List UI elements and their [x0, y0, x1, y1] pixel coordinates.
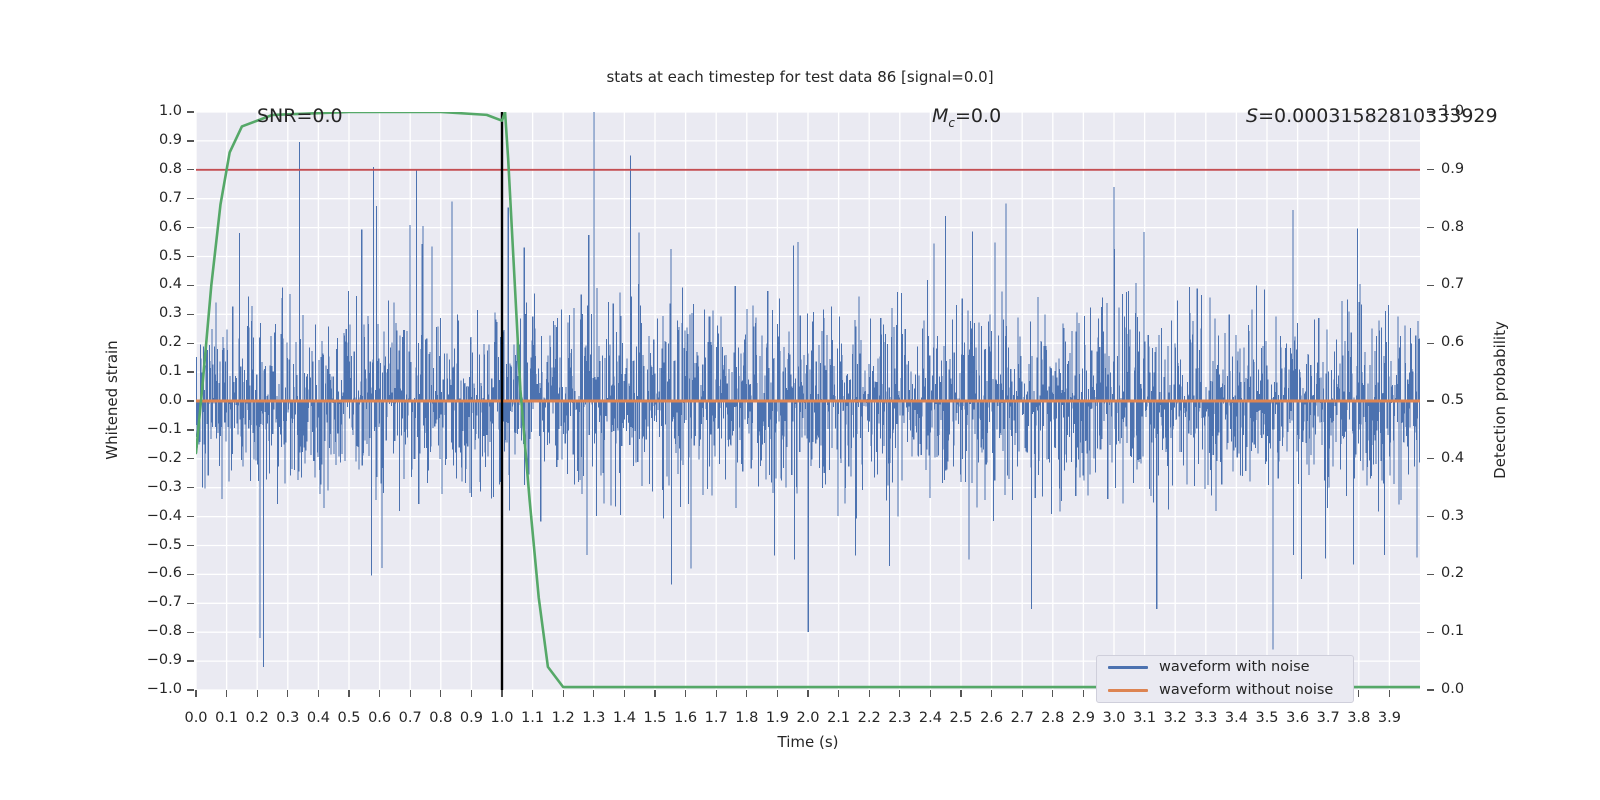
x-axis-tick-mark: [960, 690, 961, 697]
y-axis-right-tick-label: 0.6: [1441, 335, 1464, 350]
plot-svg: [196, 112, 1420, 690]
y-axis-left-tick-mark: [187, 603, 194, 604]
x-axis-tick-label: 1.8: [735, 710, 758, 726]
y-axis-left-tick-label: −0.8: [120, 624, 182, 639]
y-axis-left-tick-mark: [187, 660, 194, 661]
figure-canvas: stats at each timestep for test data 86 …: [0, 0, 1600, 800]
x-axis-tick-mark: [195, 690, 196, 697]
statistic-annotation: S=0.00031582810333929: [1246, 105, 1498, 127]
y-axis-right-tick-label: 0.8: [1441, 220, 1464, 235]
y-axis-left-tick-mark: [187, 458, 194, 459]
x-axis-tick-label: 1.2: [552, 710, 575, 726]
x-axis-tick-label: 0.7: [399, 710, 422, 726]
x-axis-tick-mark: [991, 690, 992, 697]
x-axis-tick-mark: [777, 690, 778, 697]
y-axis-left-tick-mark: [187, 198, 194, 199]
chart-title: stats at each timestep for test data 86 …: [0, 68, 1600, 86]
y-axis-left-tick-mark: [187, 371, 194, 372]
y-axis-right-tick-label: 0.3: [1441, 509, 1464, 524]
x-axis-tick-mark: [716, 690, 717, 697]
x-axis-tick-label: 1.1: [521, 710, 544, 726]
x-axis-tick-label: 2.2: [858, 710, 881, 726]
x-axis-tick-mark: [1052, 690, 1053, 697]
x-axis-tick-label: 3.6: [1286, 710, 1309, 726]
legend-box: waveform with noise waveform without noi…: [1096, 655, 1354, 703]
y-axis-left-tick-mark: [187, 487, 194, 488]
x-axis-tick-label: 3.2: [1164, 710, 1187, 726]
x-axis-tick-mark: [287, 690, 288, 697]
x-axis-tick-label: 2.7: [1011, 710, 1034, 726]
x-axis-tick-label: 2.3: [888, 710, 911, 726]
y-axis-right-tick-mark: [1427, 632, 1434, 633]
x-axis-tick-mark: [593, 690, 594, 697]
x-axis-tick-label: 2.4: [919, 710, 942, 726]
y-axis-left-tick-mark: [187, 285, 194, 286]
x-axis-tick-label: 3.3: [1194, 710, 1217, 726]
x-axis-tick-label: 2.0: [796, 710, 819, 726]
snr-annotation: SNR=0.0: [257, 105, 343, 127]
x-axis-tick-label: 3.7: [1317, 710, 1340, 726]
y-axis-left-tick-mark: [187, 140, 194, 141]
y-axis-left-tick-mark: [187, 632, 194, 633]
x-axis-tick-label: 1.9: [766, 710, 789, 726]
y-axis-right-tick-label: 0.7: [1441, 277, 1464, 292]
y-axis-left-label: Whitened strain: [103, 340, 121, 459]
y-axis-left-tick-label: 0.9: [120, 133, 182, 148]
y-axis-left-tick-label: −0.6: [120, 566, 182, 581]
y-axis-left-tick-mark: [187, 314, 194, 315]
x-axis-tick-label: 2.5: [949, 710, 972, 726]
x-axis-tick-mark: [1389, 690, 1390, 697]
y-axis-right-tick-label: 0.4: [1441, 451, 1464, 466]
x-axis-tick-label: 0.6: [368, 710, 391, 726]
y-axis-right-tick-label: 0.2: [1441, 566, 1464, 581]
x-axis-label: Time (s): [778, 733, 839, 751]
x-axis-tick-label: 0.3: [276, 710, 299, 726]
x-axis-tick-label: 0.5: [337, 710, 360, 726]
y-axis-left-tick-mark: [187, 429, 194, 430]
chirp-mass-symbol: M: [932, 105, 948, 127]
x-axis-tick-label: 3.5: [1255, 710, 1278, 726]
x-axis-tick-mark: [532, 690, 533, 697]
chirp-mass-annotation: Mc=0.0: [932, 105, 1001, 130]
x-axis-tick-label: 3.4: [1225, 710, 1248, 726]
x-axis-tick-mark: [869, 690, 870, 697]
y-axis-left-tick-mark: [187, 400, 194, 401]
x-axis-tick-label: 2.9: [1072, 710, 1095, 726]
y-axis-left-tick-label: 0.6: [120, 220, 182, 235]
y-axis-left-tick-mark: [187, 516, 194, 517]
y-axis-left-tick-label: −0.4: [120, 509, 182, 524]
x-axis-tick-mark: [471, 690, 472, 697]
x-axis-tick-label: 3.1: [1133, 710, 1156, 726]
legend-entry-waveform-with-noise: waveform with noise: [1097, 656, 1353, 679]
legend-swatch-waveform-without-noise: [1108, 689, 1148, 692]
y-axis-right-tick-mark: [1427, 343, 1434, 344]
y-axis-left-tick-label: −0.5: [120, 538, 182, 553]
y-axis-right-tick-label: 0.0: [1441, 682, 1464, 697]
x-axis-tick-label: 0.9: [460, 710, 483, 726]
x-axis-tick-label: 3.9: [1378, 710, 1401, 726]
x-axis-tick-mark: [410, 690, 411, 697]
x-axis-tick-label: 0.1: [215, 710, 238, 726]
chirp-mass-value: =0.0: [955, 105, 1001, 127]
y-axis-right-tick-mark: [1427, 689, 1434, 690]
legend-swatch-waveform-with-noise: [1108, 666, 1148, 669]
y-axis-left-tick-label: 0.0: [120, 393, 182, 408]
y-axis-left-tick-label: 0.3: [120, 306, 182, 321]
x-axis-tick-mark: [501, 690, 502, 697]
x-axis-tick-mark: [379, 690, 380, 697]
x-axis-tick-mark: [899, 690, 900, 697]
y-axis-left-tick-label: 0.8: [120, 162, 182, 177]
y-axis-left-tick-mark: [187, 227, 194, 228]
y-axis-left-tick-label: 1.0: [120, 104, 182, 119]
x-axis-tick-mark: [348, 690, 349, 697]
x-axis-tick-label: 0.0: [184, 710, 207, 726]
y-axis-left-tick-label: 0.1: [120, 364, 182, 379]
y-axis-left-tick-label: 0.2: [120, 335, 182, 350]
x-axis-tick-label: 1.7: [705, 710, 728, 726]
x-axis-tick-label: 1.5: [643, 710, 666, 726]
y-axis-right-tick-mark: [1427, 227, 1434, 228]
y-axis-right-tick-mark: [1427, 169, 1434, 170]
legend-entry-waveform-without-noise: waveform without noise: [1097, 679, 1353, 702]
y-axis-left-tick-label: −0.1: [120, 422, 182, 437]
y-axis-left-tick-label: −0.3: [120, 480, 182, 495]
x-axis-tick-mark: [654, 690, 655, 697]
y-axis-left-tick-mark: [187, 169, 194, 170]
y-axis-right-tick-mark: [1427, 516, 1434, 517]
y-axis-left-tick-label: 0.7: [120, 191, 182, 206]
y-axis-left-tick-label: 0.4: [120, 277, 182, 292]
statistic-value: =0.00031582810333929: [1258, 105, 1498, 127]
x-axis-tick-label: 3.8: [1347, 710, 1370, 726]
x-axis-tick-label: 2.8: [1041, 710, 1064, 726]
y-axis-right-tick-mark: [1427, 574, 1434, 575]
y-axis-right-tick-label: 0.9: [1441, 162, 1464, 177]
x-axis-tick-mark: [930, 690, 931, 697]
y-axis-left-tick-label: −0.2: [120, 451, 182, 466]
x-axis-tick-mark: [257, 690, 258, 697]
x-axis-tick-mark: [226, 690, 227, 697]
y-axis-left-tick-mark: [187, 111, 194, 112]
x-axis-tick-label: 1.4: [613, 710, 636, 726]
x-axis-tick-label: 2.1: [827, 710, 850, 726]
x-axis-tick-mark: [624, 690, 625, 697]
y-axis-left-tick-label: −1.0: [120, 682, 182, 697]
y-axis-right-tick-label: 0.5: [1441, 393, 1464, 408]
legend-label-waveform-without-noise: waveform without noise: [1159, 682, 1333, 698]
y-axis-right-label: Detection probability: [1491, 321, 1509, 479]
y-axis-right-tick-label: 0.1: [1441, 624, 1464, 639]
x-axis-tick-mark: [1358, 690, 1359, 697]
y-axis-left-tick-label: −0.9: [120, 653, 182, 668]
x-axis-tick-mark: [563, 690, 564, 697]
x-axis-tick-label: 0.4: [307, 710, 330, 726]
x-axis-tick-label: 3.0: [1102, 710, 1125, 726]
x-axis-tick-label: 1.0: [490, 710, 513, 726]
x-axis-tick-mark: [1083, 690, 1084, 697]
legend-label-waveform-with-noise: waveform with noise: [1159, 659, 1310, 675]
x-axis-tick-mark: [838, 690, 839, 697]
x-axis-tick-label: 2.6: [980, 710, 1003, 726]
y-axis-left-tick-label: −0.7: [120, 595, 182, 610]
y-axis-left-tick-label: 0.5: [120, 249, 182, 264]
x-axis-tick-mark: [807, 690, 808, 697]
x-axis-tick-mark: [318, 690, 319, 697]
y-axis-right-tick-mark: [1427, 458, 1434, 459]
x-axis-tick-mark: [1022, 690, 1023, 697]
y-axis-left-tick-mark: [187, 256, 194, 257]
x-axis-tick-mark: [440, 690, 441, 697]
y-axis-left-tick-mark: [187, 343, 194, 344]
x-axis-tick-label: 1.3: [582, 710, 605, 726]
x-axis-tick-mark: [746, 690, 747, 697]
y-axis-left-tick-mark: [187, 545, 194, 546]
y-axis-left-tick-mark: [187, 574, 194, 575]
y-axis-right-tick-mark: [1427, 285, 1434, 286]
x-axis-tick-mark: [685, 690, 686, 697]
y-axis-right-tick-mark: [1427, 400, 1434, 401]
y-axis-left-tick-mark: [187, 689, 194, 690]
plot-area: [196, 112, 1420, 690]
x-axis-tick-label: 0.2: [246, 710, 269, 726]
x-axis-tick-label: 0.8: [429, 710, 452, 726]
statistic-symbol: S: [1246, 105, 1258, 127]
x-axis-tick-label: 1.6: [674, 710, 697, 726]
